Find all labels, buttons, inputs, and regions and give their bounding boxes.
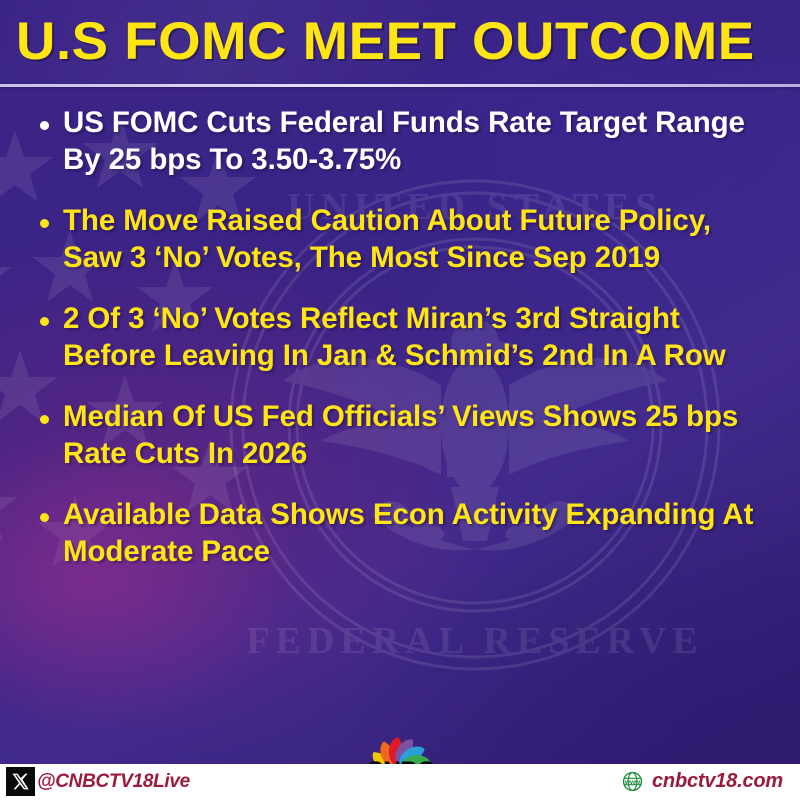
x-twitter-icon[interactable]: [6, 767, 35, 796]
x-glyph: [11, 772, 30, 791]
bullet-dot-icon: [40, 415, 49, 424]
footer-bar: @CNBCTV18Live www cnbctv18.com: [0, 764, 800, 800]
bullet-list: US FOMC Cuts Federal Funds Rate Target R…: [0, 104, 800, 594]
list-item: Available Data Shows Econ Activity Expan…: [0, 496, 800, 570]
svg-text:FEDERAL RESERVE: FEDERAL RESERVE: [246, 620, 703, 662]
list-item: US FOMC Cuts Federal Funds Rate Target R…: [0, 104, 800, 178]
list-item: Median Of US Fed Officials’ Views Shows …: [0, 398, 800, 472]
page-title: U.S FOMC MEET OUTCOME: [16, 14, 800, 70]
bullet-text: The Move Raised Caution About Future Pol…: [63, 202, 774, 276]
globe-www-icon: www: [622, 771, 643, 792]
bullet-text: 2 Of 3 ‘No’ Votes Reflect Miran’s 3rd St…: [63, 300, 774, 374]
list-item: The Move Raised Caution About Future Pol…: [0, 202, 800, 276]
header-divider: [0, 84, 800, 87]
bullet-dot-icon: [40, 121, 49, 130]
svg-text:www: www: [624, 779, 641, 786]
bullet-dot-icon: [40, 219, 49, 228]
bullet-text: Available Data Shows Econ Activity Expan…: [63, 496, 774, 570]
bullet-text: Median Of US Fed Officials’ Views Shows …: [63, 398, 774, 472]
bullet-dot-icon: [40, 317, 49, 326]
website-url-label[interactable]: cnbctv18.com: [652, 770, 783, 793]
x-handle-label[interactable]: @CNBCTV18Live: [37, 771, 190, 793]
bullet-dot-icon: [40, 513, 49, 522]
list-item: 2 Of 3 ‘No’ Votes Reflect Miran’s 3rd St…: [0, 300, 800, 374]
bullet-text: US FOMC Cuts Federal Funds Rate Target R…: [63, 104, 774, 178]
header-band: U.S FOMC MEET OUTCOME: [0, 0, 800, 86]
news-graphic-card: UNITED STATES FEDERAL RESERVE: [0, 0, 800, 800]
